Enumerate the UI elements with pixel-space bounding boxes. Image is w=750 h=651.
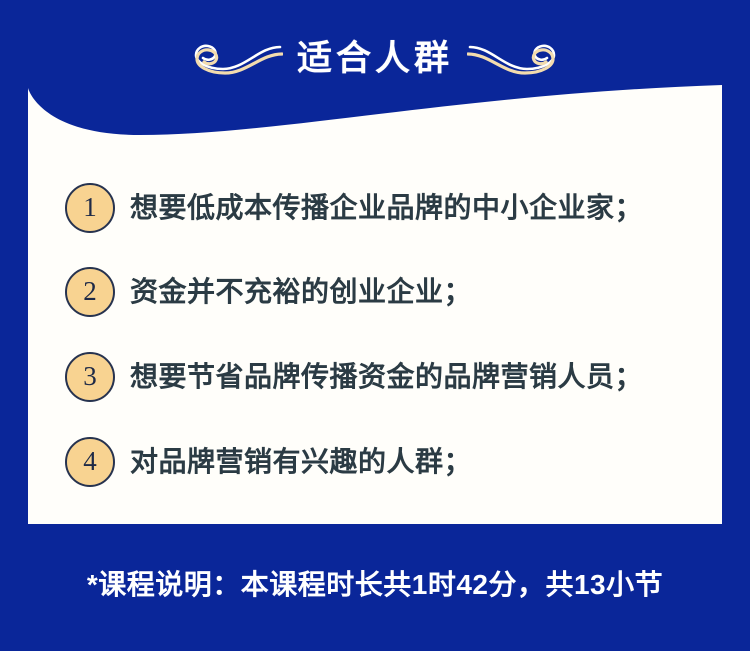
suitable-audience-poster: 适合人群 1 想要低成本传播企业品牌的中小企业家； 2 资金并不充裕的创业企业；… — [0, 0, 750, 651]
item-number-badge: 1 — [65, 183, 115, 233]
audience-list: 1 想要低成本传播企业品牌的中小企业家； 2 资金并不充裕的创业企业； 3 想要… — [28, 80, 722, 524]
poster-header: 适合人群 — [0, 28, 750, 88]
item-label: 想要低成本传播企业品牌的中小企业家； — [130, 193, 643, 224]
wave-flourish-left-icon — [187, 38, 283, 78]
item-number-badge: 4 — [65, 437, 115, 487]
list-item: 1 想要低成本传播企业品牌的中小企业家； — [65, 183, 643, 233]
item-label: 资金并不充裕的创业企业； — [130, 277, 472, 308]
content-panel: 1 想要低成本传播企业品牌的中小企业家； 2 资金并不充裕的创业企业； 3 想要… — [28, 80, 722, 524]
list-item: 2 资金并不充裕的创业企业； — [65, 267, 472, 317]
item-label: 想要节省品牌传播资金的品牌营销人员； — [130, 362, 643, 393]
item-label: 对品牌营销有兴趣的人群； — [130, 447, 472, 478]
page-title: 适合人群 — [297, 41, 453, 76]
item-number-badge: 2 — [65, 267, 115, 317]
list-item: 4 对品牌营销有兴趣的人群； — [65, 437, 472, 487]
item-number-badge: 3 — [65, 352, 115, 402]
list-item: 3 想要节省品牌传播资金的品牌营销人员； — [65, 352, 643, 402]
course-note: *课程说明：本课程时长共1时42分，共13小节 — [0, 566, 750, 604]
wave-flourish-right-icon — [467, 38, 563, 78]
